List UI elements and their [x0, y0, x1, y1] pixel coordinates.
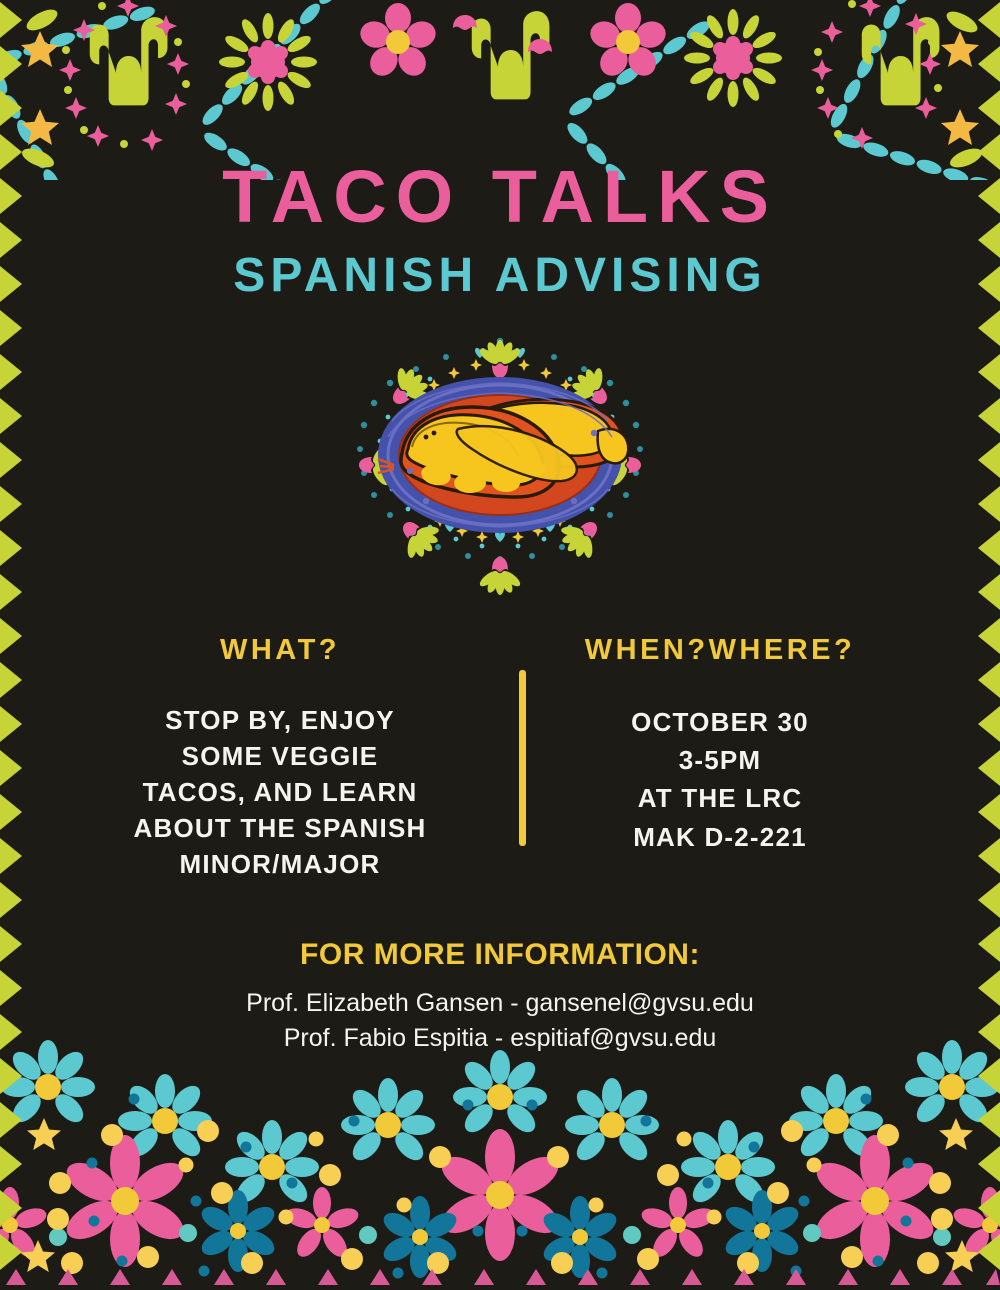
page-subtitle: SPANISH ADVISING [0, 252, 1000, 300]
when-line: 3-5PM [550, 741, 890, 779]
column-when-where-heading: WHEN?WHERE? [550, 636, 890, 665]
page-title: TACO TALKS [0, 160, 1000, 234]
contact-heading: FOR MORE INFORMATION: [0, 940, 1000, 970]
right-edge-triangle-strip [970, 0, 1000, 1285]
column-what-body: STOP BY, ENJOY SOME VEGGIE TACOS, AND LE… [110, 703, 450, 882]
column-when-where-body: OCTOBER 30 3-5PM AT THE LRC MAK D-2-221 [550, 703, 890, 856]
when-line: MAK D-2-221 [550, 818, 890, 856]
what-line: MINOR/MAJOR [110, 847, 450, 883]
info-columns: WHAT? STOP BY, ENJOY SOME VEGGIE TACOS, … [0, 636, 1000, 886]
top-border-decoration [0, 0, 1000, 180]
when-line: OCTOBER 30 [550, 703, 890, 741]
what-line: TACOS, AND LEARN [110, 775, 450, 811]
vertical-divider [519, 670, 526, 846]
column-when-where: WHEN?WHERE? OCTOBER 30 3-5PM AT THE LRC … [550, 636, 890, 856]
when-line: AT THE LRC [550, 779, 890, 817]
title-block: TACO TALKS SPANISH ADVISING [0, 160, 1000, 300]
left-edge-triangle-strip [0, 0, 30, 1285]
column-what: WHAT? STOP BY, ENJOY SOME VEGGIE TACOS, … [110, 636, 450, 882]
poster: TACO TALKS SPANISH ADVISING [0, 0, 1000, 1285]
bottom-border-decoration [0, 1035, 1000, 1285]
what-line: ABOUT THE SPANISH [110, 811, 450, 847]
column-what-heading: WHAT? [110, 636, 450, 665]
taco-plate-illustration [330, 325, 670, 625]
contact-line-1: Prof. Elizabeth Gansen - gansenel@gvsu.e… [0, 986, 1000, 1021]
what-line: STOP BY, ENJOY [110, 703, 450, 739]
what-line: SOME VEGGIE [110, 739, 450, 775]
